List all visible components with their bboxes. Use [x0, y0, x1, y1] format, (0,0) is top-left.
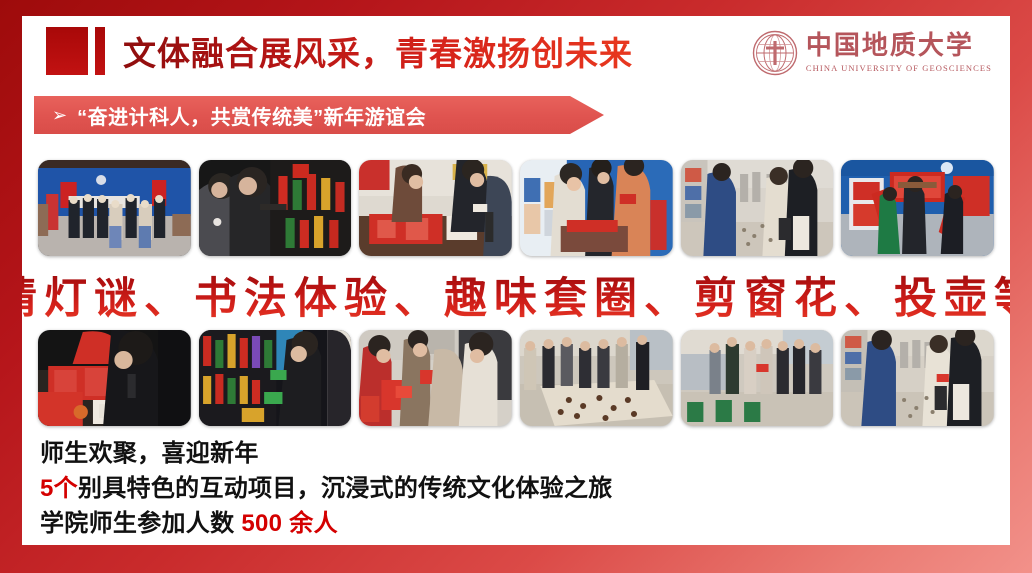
university-seal-icon: [752, 30, 798, 76]
ribbon-label: “奋进计科人，共赏传统美”新年游谊会: [77, 101, 426, 130]
title-row: 文体融合展风采，青春激扬创未来: [46, 24, 633, 78]
photo-row-bottom: [38, 330, 994, 426]
photo-thumbnail: [841, 330, 994, 426]
activity-highlight: 猜灯谜、书法体验、趣味套圈、剪窗花、投壶等: [38, 266, 1000, 324]
university-logo: 中国地质大学 CHINA UNIVERSITY OF GEOSCIENCES: [752, 26, 992, 80]
caption-line-1: 师生欢聚，喜迎新年: [40, 436, 994, 471]
photo-thumbnail: [199, 160, 352, 256]
caption-text: 别具特色的互动项目，沉浸式的传统文化体验之旅: [78, 475, 613, 502]
photo-thumbnail: [38, 330, 191, 426]
logo-name-cn: 中国地质大学: [806, 33, 992, 60]
photo-thumbnail: [359, 160, 512, 256]
logo-text-group: 中国地质大学 CHINA UNIVERSITY OF GEOSCIENCES: [806, 33, 992, 72]
caption-line-2: 5个别具特色的互动项目，沉浸式的传统文化体验之旅: [40, 471, 994, 506]
photo-thumbnail: [520, 330, 673, 426]
arrow-bullet-icon: ➢: [52, 106, 67, 124]
photo-thumbnail: [359, 330, 512, 426]
photo-thumbnail: [199, 330, 352, 426]
caption-line-3: 学院师生参加人数 500 余人: [40, 506, 994, 541]
photo-thumbnail: [520, 160, 673, 256]
caption-highlight: 5个: [40, 475, 78, 502]
caption-block: 师生欢聚，喜迎新年 5个别具特色的互动项目，沉浸式的传统文化体验之旅 学院师生参…: [40, 436, 994, 541]
section-ribbon: ➢ “奋进计科人，共赏传统美”新年游谊会: [34, 96, 604, 134]
slide-header: 文体融合展风采，青春激扬创未来: [22, 16, 1010, 94]
photo-thumbnail: [681, 330, 834, 426]
slide-content: 文体融合展风采，青春激扬创未来: [22, 16, 1010, 545]
photo-thumbnail: [38, 160, 191, 256]
red-bar-icon: [95, 27, 105, 75]
caption-highlight: 500 余人: [241, 510, 338, 537]
photo-row-top: [38, 160, 994, 256]
logo-name-en: CHINA UNIVERSITY OF GEOSCIENCES: [806, 63, 992, 73]
page-title: 文体融合展风采，青春激扬创未来: [123, 27, 633, 75]
activity-highlight-text: 猜灯谜、书法体验、趣味套圈、剪窗花、投壶等: [22, 264, 1010, 326]
caption-text: 师生欢聚，喜迎新年: [40, 440, 259, 467]
slide-frame: 文体融合展风采，青春激扬创未来: [0, 0, 1032, 573]
photo-thumbnail: [681, 160, 834, 256]
red-block-icon: [46, 27, 88, 75]
caption-text: 学院师生参加人数: [40, 510, 241, 537]
photo-thumbnail: [841, 160, 994, 256]
